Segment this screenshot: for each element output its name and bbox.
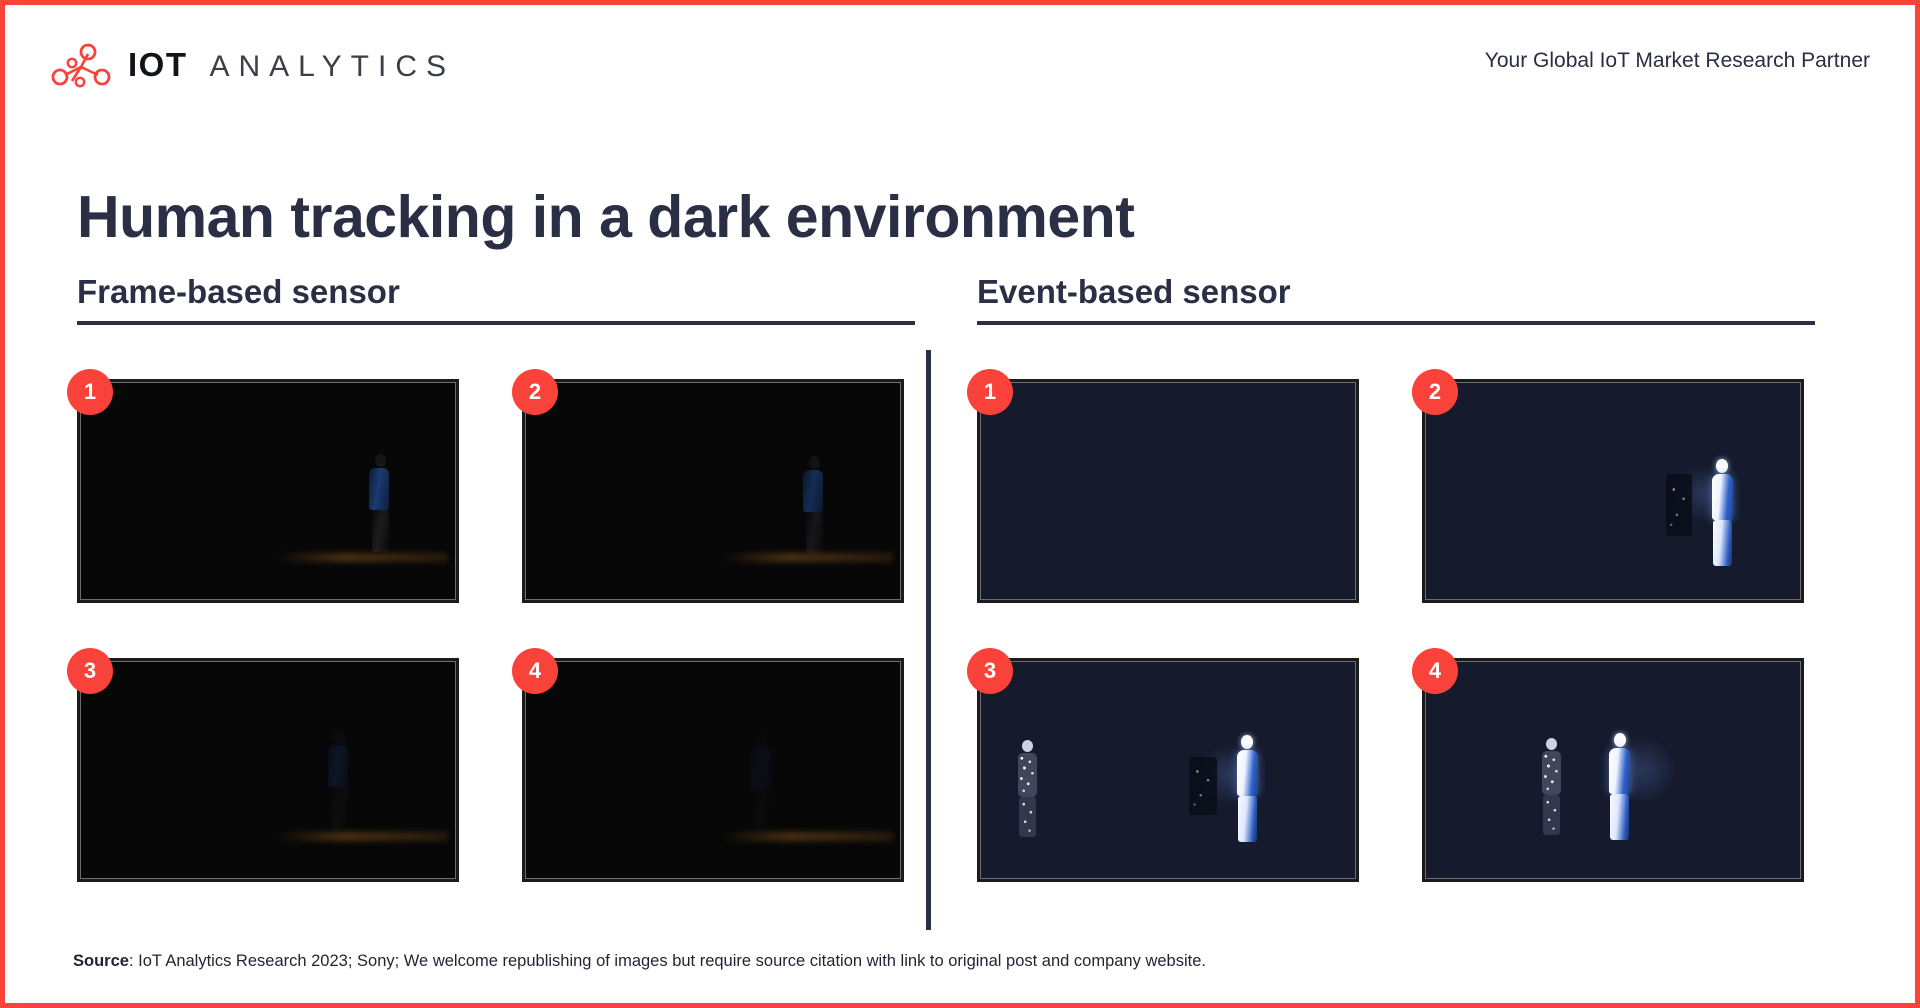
video-event-1-scene xyxy=(980,382,1356,600)
figure-head xyxy=(1022,740,1033,752)
figure-head xyxy=(1716,459,1728,473)
logo-primary-text: IOT xyxy=(128,46,188,84)
figure-torso xyxy=(1542,751,1561,795)
tile-badge-2: 2 xyxy=(1412,369,1458,415)
figure-legs xyxy=(1713,520,1732,566)
figure-head xyxy=(334,731,345,744)
figure-head xyxy=(1241,735,1253,749)
tile-badge-3: 3 xyxy=(67,648,113,694)
video-frame-2-scene xyxy=(525,382,901,600)
figure-torso xyxy=(369,468,389,510)
tile-badge-2: 2 xyxy=(512,369,558,415)
figure-torso xyxy=(1609,748,1630,794)
figure-bright-right xyxy=(1237,735,1258,842)
figure-torso xyxy=(803,470,823,512)
tile-grid-frame-based: 1 2 xyxy=(77,379,915,882)
tile-badge-3: 3 xyxy=(967,648,1013,694)
section-event-based: Event-based sensor 1 2 xyxy=(977,273,1815,882)
figure-legs xyxy=(1019,797,1036,837)
network-nodes-icon xyxy=(50,41,114,89)
section-title-event-based: Event-based sensor xyxy=(977,273,1815,319)
video-event-2-scene xyxy=(1425,382,1801,600)
video-event-4-scene xyxy=(1425,661,1801,879)
figure-torso xyxy=(1712,474,1733,520)
figure-torso xyxy=(1018,753,1037,797)
tile-grid-event-based: 1 2 xyxy=(977,379,1815,882)
video-tile-event-2[interactable]: 2 xyxy=(1422,379,1804,603)
section-rule-event-based xyxy=(977,321,1815,325)
figure-head xyxy=(1546,738,1557,750)
figure-torso xyxy=(751,747,771,789)
figure-head xyxy=(756,733,767,746)
brand-tagline: Your Global IoT Market Research Partner xyxy=(1485,49,1870,73)
section-rule-frame-based xyxy=(77,321,915,325)
figure-head xyxy=(1614,733,1626,747)
figure-legs xyxy=(1610,794,1629,840)
video-tile-frame-4[interactable]: 4 xyxy=(522,658,904,882)
figure-torso xyxy=(1237,750,1258,796)
tile-badge-1: 1 xyxy=(67,369,113,415)
figure-head xyxy=(375,454,386,467)
video-tile-frame-3[interactable]: 3 xyxy=(77,658,459,882)
video-tile-event-3[interactable]: 3 xyxy=(977,658,1359,882)
section-frame-based: Frame-based sensor 1 xyxy=(77,273,915,882)
source-text: IoT Analytics Research 2023; Sony; We we… xyxy=(138,952,1206,970)
video-frame-3-scene xyxy=(80,661,456,879)
source-separator: : xyxy=(129,952,138,970)
video-tile-frame-1[interactable]: 1 xyxy=(77,379,459,603)
slide-canvas: IOT ANALYTICS Your Global IoT Market Res… xyxy=(0,0,1920,1008)
figure-sparse-left xyxy=(1018,740,1037,837)
figure-legs xyxy=(806,512,823,554)
section-divider xyxy=(926,350,931,930)
figure-legs xyxy=(753,789,770,831)
figure-bright-right xyxy=(1609,733,1630,840)
source-label: Source xyxy=(73,952,129,970)
tile-badge-4: 4 xyxy=(1412,648,1458,694)
video-tile-event-1[interactable]: 1 xyxy=(977,379,1359,603)
figure-head xyxy=(809,456,820,469)
brand-logo[interactable]: IOT ANALYTICS xyxy=(50,37,455,93)
video-frame-1-scene xyxy=(80,382,456,600)
slide-header: IOT ANALYTICS Your Global IoT Market Res… xyxy=(50,37,1870,97)
figure-legs xyxy=(1543,795,1560,835)
event-debris-cloud xyxy=(1666,474,1692,536)
video-event-3-scene xyxy=(980,661,1356,879)
figure-legs xyxy=(1238,796,1257,842)
section-title-frame-based: Frame-based sensor xyxy=(77,273,915,319)
tile-badge-4: 4 xyxy=(512,648,558,694)
event-debris-cloud xyxy=(1189,757,1217,815)
page-title: Human tracking in a dark environment xyxy=(77,183,1134,251)
video-tile-event-4[interactable]: 4 xyxy=(1422,658,1804,882)
video-frame-4-scene xyxy=(525,661,901,879)
tile-badge-1: 1 xyxy=(967,369,1013,415)
video-tile-frame-2[interactable]: 2 xyxy=(522,379,904,603)
figure-legs xyxy=(372,510,389,552)
figure-legs xyxy=(331,787,348,829)
figure-torso xyxy=(328,745,348,787)
source-footer: Source: IoT Analytics Research 2023; Son… xyxy=(73,952,1206,971)
figure-sparse-left xyxy=(1542,738,1561,835)
logo-secondary-text: ANALYTICS xyxy=(210,50,456,84)
